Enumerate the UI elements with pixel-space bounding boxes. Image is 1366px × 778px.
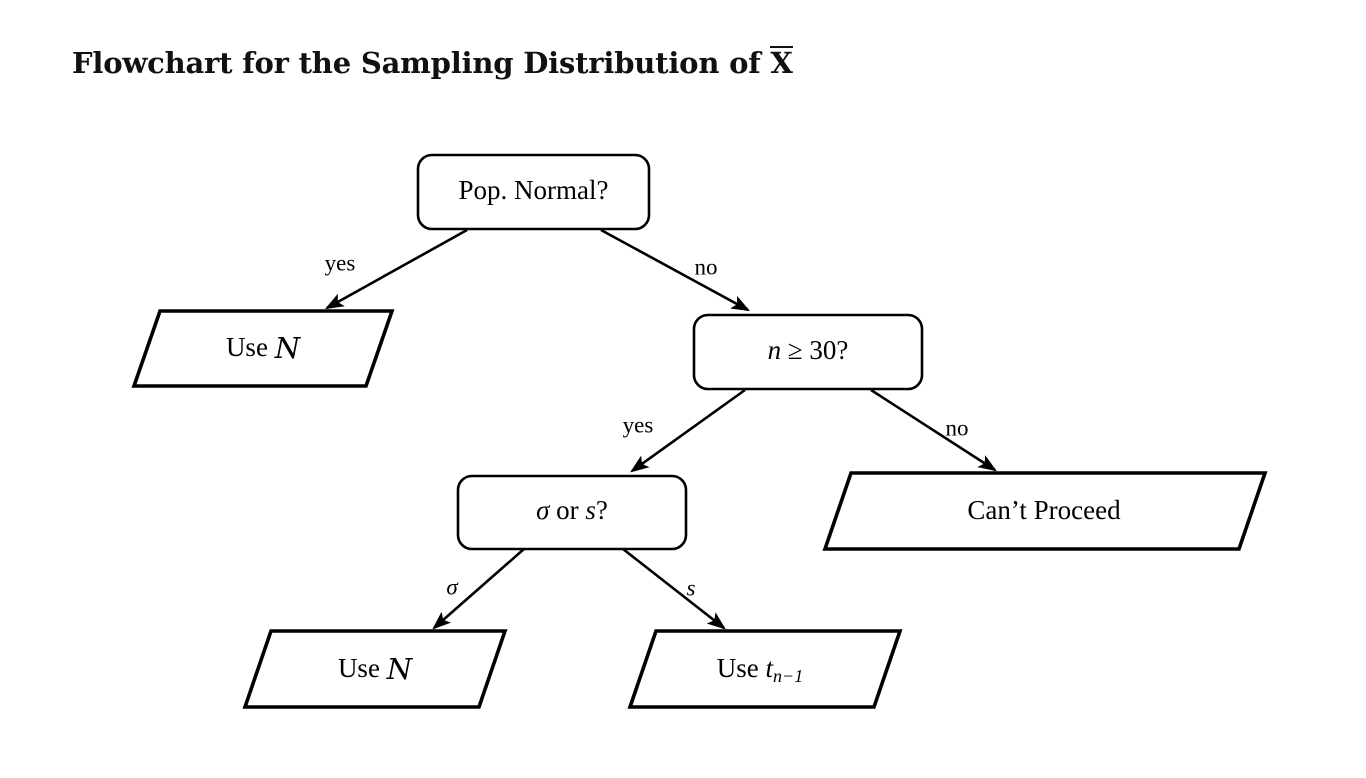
node-n-ge-30[interactable]: n ≥ 30? bbox=[694, 315, 922, 389]
node-use-normal-2-prefix: Use bbox=[338, 653, 387, 683]
node-use-normal-2-label: Use N bbox=[338, 652, 414, 686]
edge-pop-normal-to-n-ge-30 bbox=[601, 230, 748, 310]
node-s-symbol: s bbox=[585, 495, 596, 525]
node-pop-normal[interactable]: Pop. Normal? bbox=[418, 155, 649, 229]
node-cant-proceed-label: Can’t Proceed bbox=[967, 495, 1121, 525]
node-use-t[interactable]: Use tn−1 bbox=[630, 631, 900, 707]
node-sigma-or-s-conj: or bbox=[549, 495, 585, 525]
node-pop-normal-label: Pop. Normal? bbox=[459, 175, 609, 205]
node-n-ge-30-var: n bbox=[768, 335, 782, 365]
edge-label-no-pop-normal: no bbox=[695, 254, 718, 279]
node-n-ge-30-label: n ≥ 30? bbox=[768, 335, 849, 365]
node-use-normal-1-prefix: Use bbox=[226, 332, 275, 362]
node-sigma-or-s-label: σ or s? bbox=[536, 495, 608, 525]
node-sigma-or-s[interactable]: σ or s? bbox=[458, 476, 686, 549]
edge-label-yes-pop-normal: yes bbox=[325, 250, 356, 275]
edge-label-no-n-ge-30: no bbox=[946, 415, 969, 440]
edge-label-s: s bbox=[687, 575, 696, 600]
node-use-t-prefix: Use bbox=[717, 653, 766, 683]
script-n-icon: N bbox=[274, 331, 302, 365]
script-n-icon-2: N bbox=[386, 652, 414, 686]
edge-sigma-or-s-to-use-t bbox=[623, 549, 724, 628]
node-use-normal-1-label: Use N bbox=[226, 331, 302, 365]
flowchart-canvas: yes no yes no σ s Pop. Normal? Use N n ≥… bbox=[0, 0, 1366, 778]
edge-label-sigma: σ bbox=[446, 574, 459, 599]
edge-n-ge-30-to-cant-proceed bbox=[871, 390, 995, 470]
node-use-normal-2[interactable]: Use N bbox=[245, 631, 505, 707]
node-n-ge-30-rest: ≥ 30? bbox=[781, 335, 848, 365]
flowchart-page: Flowchart for the Sampling Distribution … bbox=[0, 0, 1366, 778]
node-use-normal-1[interactable]: Use N bbox=[134, 311, 392, 386]
edges-layer bbox=[327, 230, 995, 628]
node-use-t-subscript: n−1 bbox=[773, 666, 803, 686]
edge-label-yes-n-ge-30: yes bbox=[623, 412, 654, 437]
node-sigma-or-s-question: ? bbox=[596, 495, 608, 525]
node-cant-proceed[interactable]: Can’t Proceed bbox=[825, 473, 1265, 549]
